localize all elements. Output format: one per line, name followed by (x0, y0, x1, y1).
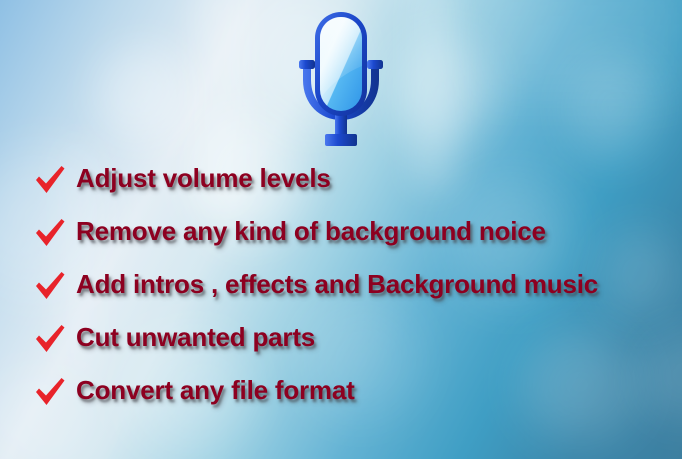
microphone-stand (325, 114, 357, 146)
poster-canvas: Adjust volume levels Remove any kind of … (0, 0, 682, 459)
bokeh-blob (96, 46, 192, 142)
check-mark-icon (33, 216, 67, 250)
bokeh-blob (392, 36, 488, 146)
check-mark-icon (33, 322, 67, 356)
list-item: Convert any file format (0, 364, 682, 417)
list-item: Add intros , effects and Background musi… (0, 258, 682, 311)
list-item: Adjust volume levels (0, 152, 682, 205)
feature-label: Convert any file format (76, 375, 355, 406)
microphone-capsule (315, 12, 367, 116)
background-streak (460, 0, 682, 100)
check-mark-icon (33, 269, 67, 303)
bokeh-blob (568, 58, 660, 158)
feature-label: Add intros , effects and Background musi… (76, 269, 598, 300)
feature-label: Cut unwanted parts (76, 322, 315, 353)
feature-label: Adjust volume levels (76, 163, 331, 194)
microphone-icon (289, 8, 393, 150)
list-item: Cut unwanted parts (0, 311, 682, 364)
list-item: Remove any kind of background noice (0, 205, 682, 258)
feature-list: Adjust volume levels Remove any kind of … (0, 152, 682, 417)
feature-label: Remove any kind of background noice (76, 216, 546, 247)
check-mark-icon (33, 163, 67, 197)
check-mark-icon (33, 375, 67, 409)
